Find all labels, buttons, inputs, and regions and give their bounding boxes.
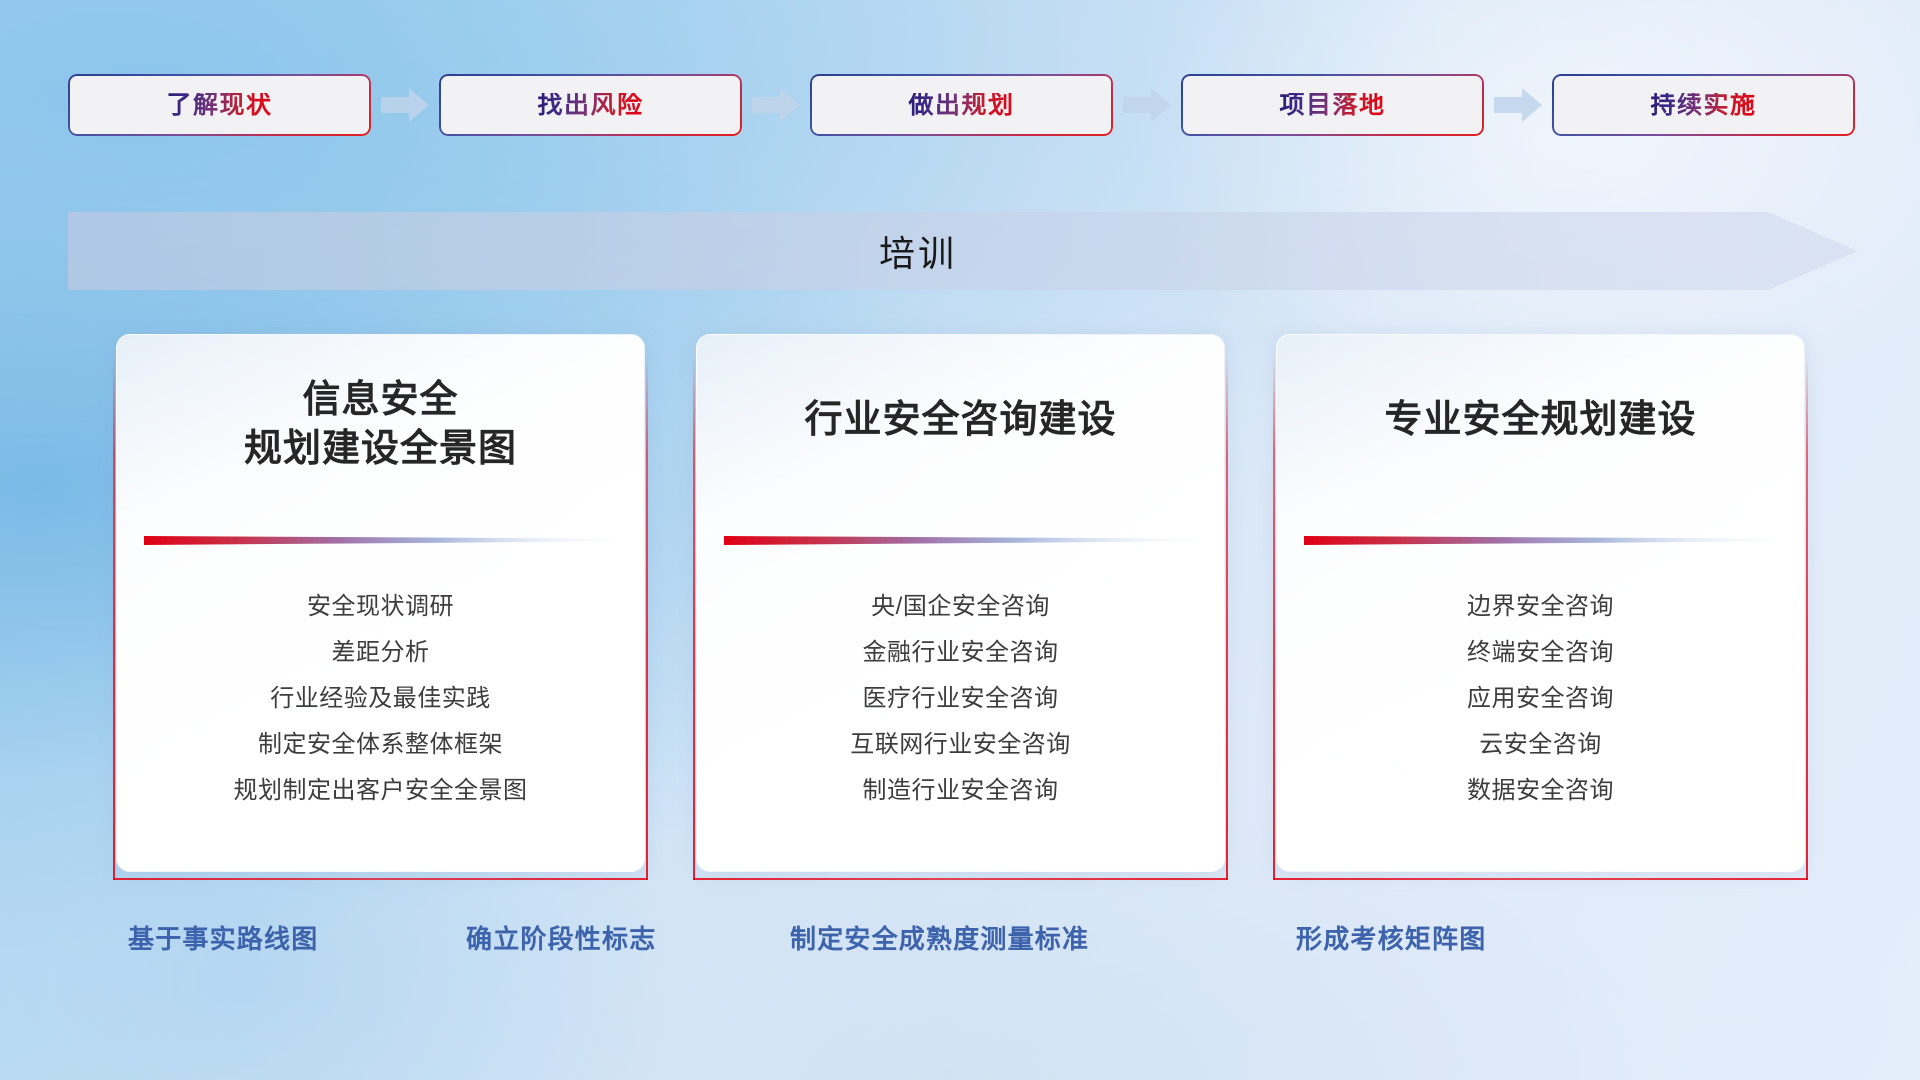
list-item: 互联网行业安全咨询 xyxy=(716,722,1205,768)
step-label-3: 做出规划 xyxy=(908,93,1014,118)
footer-label-4: 形成考核矩阵图 xyxy=(1296,916,1486,962)
card-rail-bottom xyxy=(113,878,648,880)
card-rail-right xyxy=(1806,358,1808,880)
step-box-2[interactable]: 找出风险 xyxy=(439,74,742,136)
list-item: 行业经验及最佳实践 xyxy=(136,676,625,722)
list-item: 医疗行业安全咨询 xyxy=(716,676,1205,722)
arrow-right-icon xyxy=(371,83,439,127)
list-item: 金融行业安全咨询 xyxy=(716,630,1205,676)
step-label-4: 项目落地 xyxy=(1279,93,1385,118)
footer-label-1: 基于事实路线图 xyxy=(128,916,318,962)
step-label-2: 找出风险 xyxy=(537,93,643,118)
list-item: 央/国企安全咨询 xyxy=(716,584,1205,630)
step-label-1: 了解现状 xyxy=(166,93,272,118)
card-rail-right xyxy=(1226,358,1228,880)
card-item-list: 边界安全咨询 终端安全咨询 应用安全咨询 云安全咨询 数据安全咨询 xyxy=(1296,584,1785,814)
list-item: 应用安全咨询 xyxy=(1296,676,1785,722)
footer-label-2: 确立阶段性标志 xyxy=(466,916,656,962)
step-box-3[interactable]: 做出规划 xyxy=(810,74,1113,136)
card-professional-planning[interactable]: 专业安全规划建设 xyxy=(1276,334,1805,872)
list-item: 制造行业安全咨询 xyxy=(716,768,1205,814)
card-industry-consulting[interactable]: 行业安全咨询建设 xyxy=(696,334,1225,872)
card-title: 信息安全 规划建设全景图 xyxy=(142,376,619,475)
card-rail-right xyxy=(646,358,648,880)
footer-label-3: 制定安全成熟度测量标准 xyxy=(790,916,1089,962)
gradient-divider-icon xyxy=(724,532,1197,548)
arrow-right-icon xyxy=(742,83,810,127)
card-item-list: 央/国企安全咨询 金融行业安全咨询 医疗行业安全咨询 互联网行业安全咨询 制造行… xyxy=(716,584,1205,814)
slide-canvas: 了解现状 找出风险 做出规划 项目落地 xyxy=(0,0,1920,1080)
training-band-label: 培训 xyxy=(68,212,1768,290)
card-title: 行业安全咨询建设 xyxy=(722,396,1199,445)
arrow-right-icon xyxy=(1484,83,1552,127)
card-rail-left xyxy=(113,358,115,880)
gradient-divider-icon xyxy=(144,532,617,548)
list-item: 安全现状调研 xyxy=(136,584,625,630)
card-rail-left xyxy=(1273,358,1275,880)
arrow-right-icon xyxy=(1113,83,1181,127)
list-item: 差距分析 xyxy=(136,630,625,676)
list-item: 规划制定出客户安全全景图 xyxy=(136,768,625,814)
footer-labels: 基于事实路线图 确立阶段性标志 制定安全成熟度测量标准 形成考核矩阵图 xyxy=(0,916,1920,962)
list-item: 数据安全咨询 xyxy=(1296,768,1785,814)
step-box-1[interactable]: 了解现状 xyxy=(68,74,371,136)
card-rail-left xyxy=(693,358,695,880)
training-band: 培训 xyxy=(68,212,1858,290)
step-label-5: 持续实施 xyxy=(1650,93,1756,118)
card-panorama[interactable]: 信息安全 规划建设全景图 xyxy=(116,334,645,872)
step-box-5[interactable]: 持续实施 xyxy=(1552,74,1855,136)
process-steps: 了解现状 找出风险 做出规划 项目落地 xyxy=(68,74,1858,136)
list-item: 制定安全体系整体框架 xyxy=(136,722,625,768)
card-rail-bottom xyxy=(693,878,1228,880)
list-item: 云安全咨询 xyxy=(1296,722,1785,768)
list-item: 终端安全咨询 xyxy=(1296,630,1785,676)
step-box-4[interactable]: 项目落地 xyxy=(1181,74,1484,136)
list-item: 边界安全咨询 xyxy=(1296,584,1785,630)
card-item-list: 安全现状调研 差距分析 行业经验及最佳实践 制定安全体系整体框架 规划制定出客户… xyxy=(136,584,625,814)
card-title: 专业安全规划建设 xyxy=(1302,396,1779,445)
gradient-divider-icon xyxy=(1304,532,1777,548)
card-rail-bottom xyxy=(1273,878,1808,880)
card-group: 信息安全 规划建设全景图 xyxy=(0,334,1920,874)
